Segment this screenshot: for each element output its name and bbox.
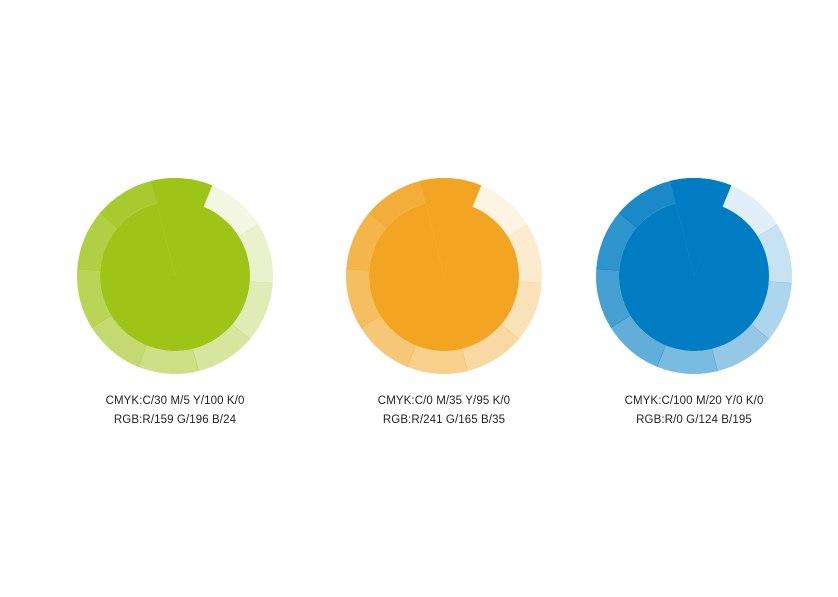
color-swatch-green [75, 176, 275, 376]
cmyk-label-orange: CMYK:C/0 M/35 Y/95 K/0 [314, 392, 574, 411]
color-wheel-orange [344, 176, 544, 376]
color-swatch-orange [344, 176, 544, 376]
swatch-caption-orange: CMYK:C/0 M/35 Y/95 K/0RGB:R/241 G/165 B/… [314, 392, 574, 430]
cmyk-label-blue: CMYK:C/100 M/20 Y/0 K/0 [564, 392, 824, 411]
swatch-caption-green: CMYK:C/30 M/5 Y/100 K/0RGB:R/159 G/196 B… [45, 392, 305, 430]
color-wheel-green [75, 176, 275, 376]
color-swatch-blue [594, 176, 794, 376]
palette-canvas: CMYK:C/30 M/5 Y/100 K/0RGB:R/159 G/196 B… [0, 0, 838, 597]
rgb-label-blue: RGB:R/0 G/124 B/195 [564, 411, 824, 430]
swatch-caption-blue: CMYK:C/100 M/20 Y/0 K/0RGB:R/0 G/124 B/1… [564, 392, 824, 430]
rgb-label-orange: RGB:R/241 G/165 B/35 [314, 411, 574, 430]
rgb-label-green: RGB:R/159 G/196 B/24 [45, 411, 305, 430]
color-wheel-blue [594, 176, 794, 376]
cmyk-label-green: CMYK:C/30 M/5 Y/100 K/0 [45, 392, 305, 411]
